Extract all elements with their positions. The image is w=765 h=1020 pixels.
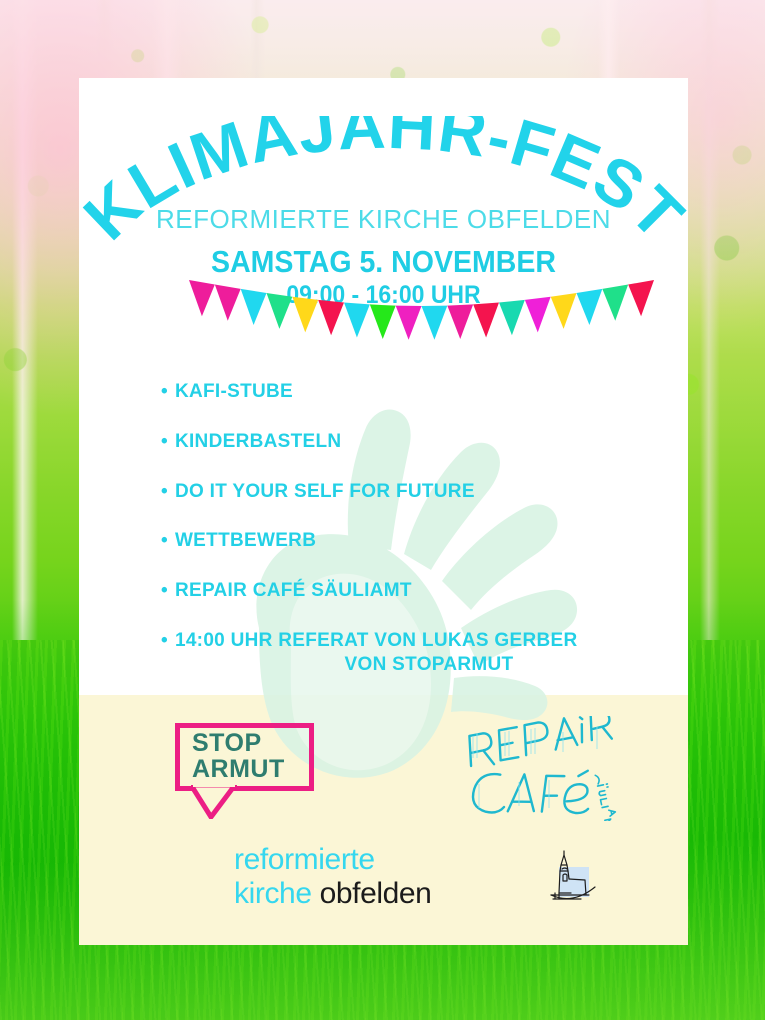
- bunting-flag: [189, 280, 215, 316]
- list-item-label: KINDERBASTELN: [175, 431, 341, 452]
- bunting-flag: [267, 293, 293, 329]
- bunting-flag: [628, 280, 654, 316]
- stoparmut-line2: ARMUT: [192, 757, 285, 783]
- stoparmut-text: STOP ARMUT: [192, 731, 285, 782]
- bunting-flag: [422, 306, 448, 340]
- stoparmut-line1: STOP: [192, 731, 285, 757]
- bullet-dot: •: [161, 580, 168, 601]
- list-item: •14:00 UHR REFERAT VON LUKAS GERBER VON …: [161, 629, 681, 677]
- stoparmut-logo: STOP ARMUT: [175, 723, 320, 801]
- poster-screenshot: KLIMAJAHR-FEST REFORMIERTE KIRCHE OBFELD…: [0, 0, 765, 1020]
- church-logo-reformierte: reformierte: [234, 843, 375, 876]
- bunting-flag: [241, 289, 267, 325]
- poster-subtitle: REFORMIERTE KIRCHE OBFELDEN: [79, 204, 688, 235]
- bullet-dot: •: [161, 630, 168, 651]
- church-steeple-icon: [537, 849, 599, 911]
- bullet-dot: •: [161, 530, 168, 551]
- church-logo-line1: reformierte: [234, 843, 534, 877]
- poster-card: KLIMAJAHR-FEST REFORMIERTE KIRCHE OBFELD…: [79, 78, 688, 945]
- bunting-flag: [473, 303, 499, 338]
- list-item: •DO IT YOUR SELF FOR FUTURE: [161, 480, 681, 504]
- bunting-flag: [344, 303, 370, 338]
- list-item-label: WETTBEWERB: [175, 530, 316, 551]
- bunting-flag: [396, 306, 422, 340]
- list-item: •KAFI-STUBE: [161, 380, 681, 404]
- church-logo-line2: kirche obfelden: [234, 877, 534, 911]
- bunting-flag: [499, 300, 525, 335]
- bunting-flag: [602, 285, 628, 321]
- repair-cafe-logo: [459, 716, 619, 821]
- church-logo-obfelden: obfelden: [320, 877, 432, 910]
- bunting-flag: [525, 297, 551, 333]
- stoparmut-bubble-tail: [191, 785, 237, 819]
- bunting-flag: [292, 297, 318, 333]
- list-item: •REPAIR CAFÉ SÄULIAMT: [161, 579, 681, 603]
- bunting-flag: [318, 300, 344, 335]
- list-item: •KINDERBASTELN: [161, 430, 681, 454]
- bunting-flag: [215, 285, 241, 321]
- list-item-label: DO IT YOUR SELF FOR FUTURE: [175, 481, 475, 502]
- list-item-label-line2: VON STOPARMUT: [161, 653, 681, 677]
- list-item-label: 14:00 UHR REFERAT VON LUKAS GERBER: [175, 630, 578, 651]
- bunting-flags-icon: [99, 272, 669, 352]
- bunting-flag: [447, 304, 473, 339]
- bullet-dot: •: [161, 481, 168, 502]
- bunting-flag: [370, 304, 396, 339]
- list-item-label: KAFI-STUBE: [175, 381, 293, 402]
- bunting-flag: [577, 289, 603, 325]
- reformierte-kirche-obfelden-logo: reformierte kirche obfelden: [234, 843, 534, 913]
- bullet-dot: •: [161, 431, 168, 452]
- bullet-dot: •: [161, 381, 168, 402]
- list-item-label: REPAIR CAFÉ SÄULIAMT: [175, 580, 412, 601]
- list-item: •WETTBEWERB: [161, 529, 681, 553]
- bunting-flag: [551, 293, 577, 329]
- church-logo-kirche: kirche: [234, 877, 312, 910]
- program-list: •KAFI-STUBE •KINDERBASTELN •DO IT YOUR S…: [161, 380, 681, 676]
